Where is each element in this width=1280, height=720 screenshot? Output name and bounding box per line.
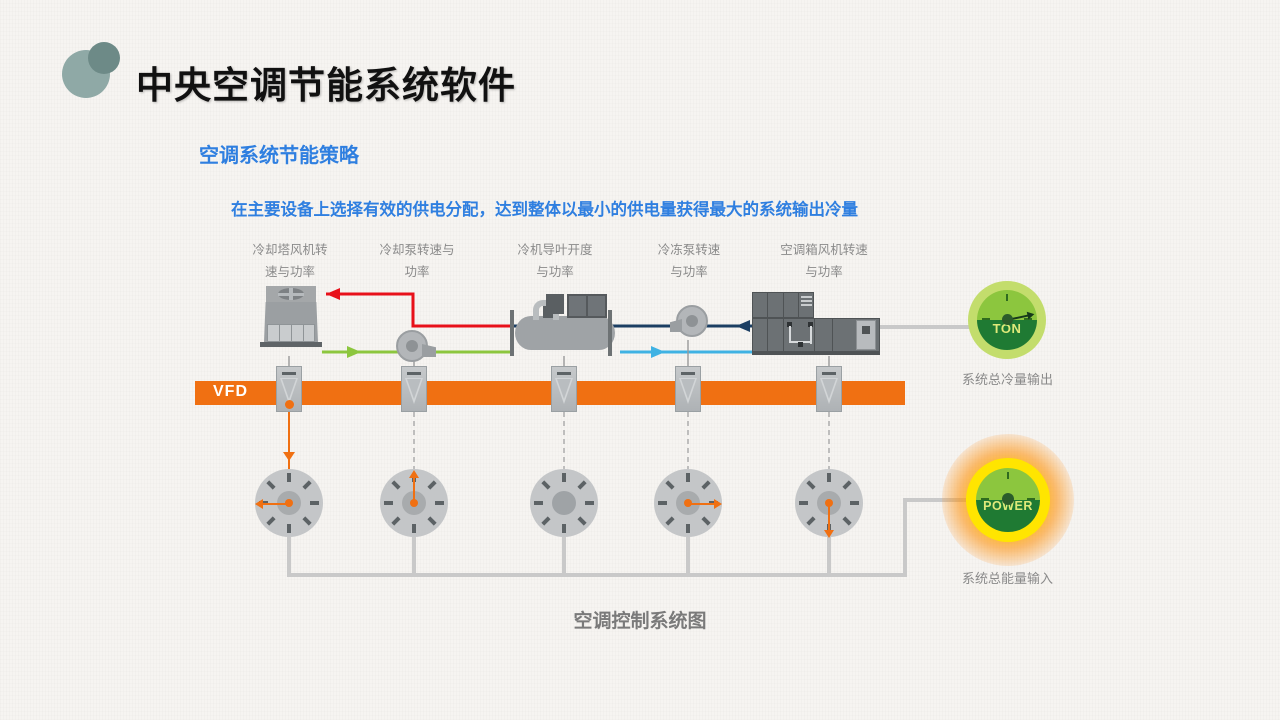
chilled-water-pump-icon	[670, 305, 710, 339]
diagram-caption: 空调控制系统图	[0, 606, 1280, 633]
power-gauge[interactable]: POWER	[966, 458, 1050, 542]
air-handling-unit-icon	[752, 292, 880, 362]
motor-4[interactable]	[654, 469, 722, 537]
motor-1-input-arrow	[283, 452, 295, 461]
motor-2[interactable]	[380, 469, 448, 537]
condenser-pump-icon	[396, 330, 436, 362]
vfd-drive-1-output-node	[285, 400, 294, 409]
pipe-condenser-return	[326, 294, 514, 326]
arrow-condenser-return	[326, 288, 340, 300]
chiller-icon	[505, 292, 625, 360]
motor-5-needle	[828, 504, 830, 531]
power-gauge-caption: 系统总能量输入	[930, 568, 1085, 587]
cooling-tower-icon	[258, 286, 324, 358]
motor-4-needle	[688, 503, 715, 505]
ton-gauge-caption: 系统总冷量输出	[930, 369, 1085, 388]
motor-3[interactable]	[530, 469, 598, 537]
vfd-drive-3[interactable]	[551, 366, 577, 412]
vfd-drive-2[interactable]	[401, 366, 427, 412]
motor-5[interactable]	[795, 469, 863, 537]
vfd-bar-label: VFD	[213, 383, 248, 401]
motor-1[interactable]	[255, 469, 323, 537]
arrow-chilled-return	[736, 320, 750, 332]
vfd-drive-4[interactable]	[675, 366, 701, 412]
arrow-condenser-supply	[347, 346, 361, 358]
arrow-chilled-supply	[651, 346, 665, 358]
vfd-drive-5[interactable]	[816, 366, 842, 412]
ton-gauge[interactable]: TON	[968, 281, 1046, 359]
